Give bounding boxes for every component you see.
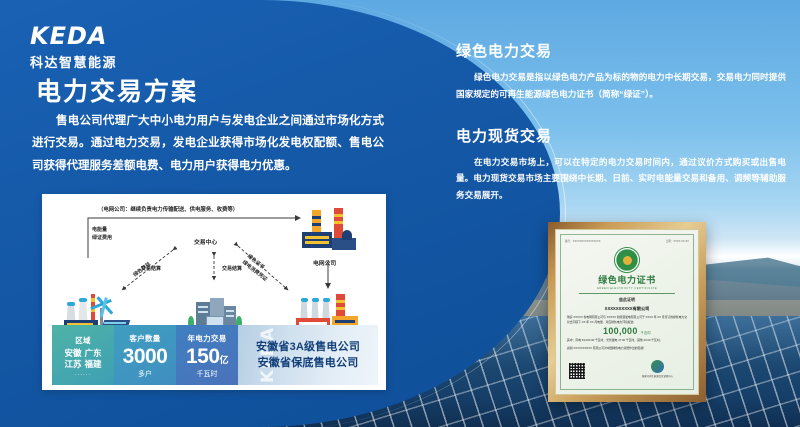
diagram-label-settlement-right: 交易结算 bbox=[222, 265, 242, 272]
certificate-detail: 其中：风电 49,000.00 千瓦时，光伏发电 47.00 千瓦时，其他 43… bbox=[565, 338, 689, 343]
stat-credentials-panel: KEDA 安徽省3A级售电公司 安徽省保底售电公司 bbox=[238, 325, 378, 385]
right-content-column: 绿色电力交易 绿色电力交易是指以绿色电力产品为标的物的电力中长期交易，交易电力同… bbox=[456, 40, 786, 226]
certificate-body: 编号：XXXXXXXXXXXXXXXX 日期：XXXX-XX-XX 绿色电力证书… bbox=[565, 239, 689, 385]
stat-volume-value: 150 bbox=[186, 345, 220, 368]
certificate-amount-wrap: 100,000 千瓦时 bbox=[565, 326, 689, 336]
section-paragraph-spot-trading: 在电力交易市场上，可以在特定的电力交易时间内，通过议价方式购买或出售电量。电力现… bbox=[456, 154, 786, 204]
issuer-caption: 国家可再生能源信息管理中心 bbox=[642, 374, 673, 378]
region-item-0: 安徽 bbox=[64, 348, 81, 359]
certificate-subtitle: GREEN ELECTRICITY CERTIFICATE bbox=[565, 287, 689, 290]
certificate-org: XXXXXXXXXX有限公司 bbox=[565, 306, 689, 312]
section-heading-green-trading: 绿色电力交易 bbox=[456, 40, 786, 61]
certificate-divider bbox=[579, 293, 675, 294]
stat-customers-value: 3000 bbox=[123, 346, 168, 367]
section-heading-spot-trading: 电力现货交易 bbox=[456, 125, 786, 146]
stat-region-values: 安徽广东 江苏福建 bbox=[63, 348, 103, 371]
certificate-amount: 100,000 bbox=[603, 326, 638, 336]
section-paragraph-green-trading: 绿色电力交易是指以绿色电力产品为标的物的电力中长期交易，交易电力同时提供国家规定… bbox=[456, 69, 786, 103]
stat-card-region: 区域 安徽广东 江苏福建 ...... bbox=[52, 325, 114, 385]
qr-code-icon bbox=[569, 363, 585, 379]
stat-volume-unit: 千瓦时 bbox=[197, 369, 218, 379]
green-certificate-frame: 编号：XXXXXXXXXXXXXXXX 日期：XXXX-XX-XX 绿色电力证书… bbox=[548, 222, 706, 402]
certificate-body-text: 购买 XXXXX 省电网有限公司与 XXXXX 新能源发电有限公司于 XXXX … bbox=[565, 315, 689, 324]
certificate-date: 日期：XXXX-XX-XX bbox=[666, 239, 689, 243]
stat-card-customers: 客户数量 3000 多户 bbox=[114, 325, 176, 385]
stat-region-ellipsis: ...... bbox=[75, 371, 91, 377]
certificate-amount-unit: 千瓦时 bbox=[640, 331, 650, 335]
diagram-label-center: 交易中心 bbox=[194, 237, 217, 246]
stat-volume-header: 年电力交易 bbox=[188, 333, 227, 344]
credential-line-2: 安徽省保底售电公司 bbox=[258, 355, 359, 372]
region-item-1: 广东 bbox=[85, 348, 102, 359]
intro-paragraph: 售电公司代理广大中小电力用户与发电企业之间通过市场化方式进行交易。通过电力交易，… bbox=[32, 110, 384, 177]
region-item-2: 江苏 bbox=[64, 359, 81, 370]
green-certificate: 编号：XXXXXXXXXXXXXXXX 日期：XXXX-XX-XX 绿色电力证书… bbox=[555, 229, 699, 395]
brand-mark-text: KEDA bbox=[30, 24, 117, 48]
stat-customers-unit: 多户 bbox=[138, 369, 152, 379]
poster-root: KEDA 科达智慧能源 电力交易方案 售电公司代理广大中小电力用户与发电企业之间… bbox=[0, 0, 800, 427]
brand-logo: KEDA 科达智慧能源 bbox=[30, 24, 117, 71]
page-title: 电力交易方案 bbox=[36, 72, 198, 108]
diagram-label-energy-1: 电能量 bbox=[92, 226, 107, 233]
stat-customers-header: 客户数量 bbox=[129, 333, 160, 344]
certificate-serial: 编号：XXXXXXXXXXXXXXXX bbox=[565, 239, 600, 243]
certificate-footer: 感谢 XXXXXXXXXX 有限公司对中国绿色电力消费作出的贡献！ bbox=[565, 346, 689, 351]
stat-volume-value-wrap: 150亿 bbox=[186, 346, 228, 367]
stat-card-volume: 年电力交易 150亿 千瓦时 bbox=[176, 325, 238, 385]
region-item-3: 福建 bbox=[85, 359, 102, 370]
diagram-label-energy-2: 绿证费用 bbox=[92, 234, 112, 241]
stats-strip: 区域 安徽广东 江苏福建 ...... 客户数量 3000 多户 年电力交易 1… bbox=[52, 325, 378, 385]
certificate-seal-icon bbox=[614, 247, 640, 273]
brand-name-cn: 科达智慧能源 bbox=[30, 52, 117, 71]
stat-volume-suffix: 亿 bbox=[220, 355, 229, 365]
certificate-statement: 兹此证明 bbox=[565, 297, 689, 303]
diagram-node-label-grid: 电网公司 bbox=[313, 258, 336, 267]
certificate-issuer-stamp: 国家可再生能源信息管理中心 bbox=[642, 360, 673, 379]
icon-grid-company bbox=[298, 208, 360, 256]
issuer-emblem-icon bbox=[651, 360, 664, 373]
certificate-corner-meta: 编号：XXXXXXXXXXXXXXXX 日期：XXXX-XX-XX bbox=[565, 239, 689, 243]
diagram-grid-note: （电网公司：继续负责电力传输配送、供电服务、收费等） bbox=[98, 205, 238, 213]
credential-line-1: 安徽省3A级售电公司 bbox=[256, 339, 360, 356]
stat-region-header: 区域 bbox=[75, 335, 91, 346]
certificate-title: 绿色电力证书 bbox=[565, 276, 689, 285]
